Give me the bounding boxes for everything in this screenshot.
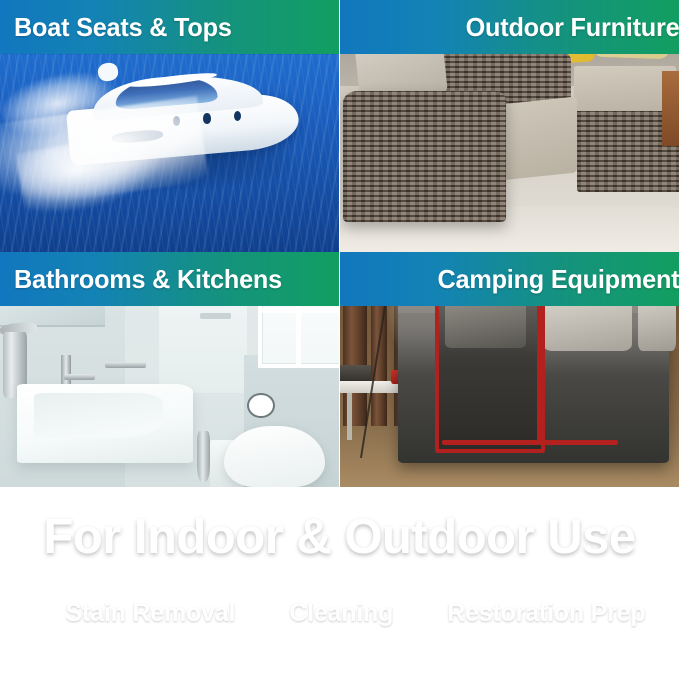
wall-mounted-faucet [105, 362, 146, 368]
feature-item-cleaning: Cleaning [257, 599, 393, 628]
towel-bar [200, 313, 231, 319]
feature-label-restoration-prep: Restoration Prep [447, 599, 645, 628]
panel-outdoor-furniture: Outdoor Furniture [340, 0, 679, 252]
check-circle-icon [257, 601, 282, 626]
panel-label-bar-bathrooms-kitchens: Bathrooms & Kitchens [0, 252, 339, 306]
tent-base-trim [442, 440, 618, 445]
feature-label-cleaning: Cleaning [289, 599, 393, 628]
check-circle-icon [415, 601, 440, 626]
wicker-chair-arm [343, 91, 506, 222]
wood-side-table [662, 71, 679, 147]
camp-table-leg [347, 393, 352, 440]
panel-label-bathrooms-kitchens: Bathrooms & Kitchens [14, 264, 282, 295]
window-mullion-horizontal [262, 308, 339, 313]
panel-camping-equipment: Camping Equipment [340, 252, 679, 487]
panel-label-bar-camping-equipment: Camping Equipment [340, 252, 679, 306]
panel-label-outdoor-furniture: Outdoor Furniture [465, 12, 679, 43]
toilet-bowl [224, 426, 326, 487]
panel-label-bar-boat-seats-tops: Boat Seats & Tops [0, 0, 339, 54]
sink-faucet-spout [64, 374, 95, 380]
feature-label-stain-removal: Stain Removal [66, 599, 236, 628]
panel-bathrooms-kitchens: Bathrooms & Kitchens [0, 252, 339, 487]
panel-label-bar-outdoor-furniture: Outdoor Furniture [340, 0, 679, 54]
boat-porthole [203, 113, 210, 124]
toilet-brush [197, 431, 211, 483]
sofa-cushion [574, 66, 676, 111]
panel-boat-seats-tops: Boat Seats & Tops [0, 0, 339, 252]
use-case-photo-grid: Boat Seats & Tops Outdoor Furni [0, 0, 679, 487]
dotted-divider [26, 579, 653, 584]
panel-label-boat-seats-tops: Boat Seats & Tops [14, 12, 232, 43]
bottom-banner: For Indoor & Outdoor Use Stain Removal C… [0, 487, 679, 679]
banner-headline: For Indoor & Outdoor Use [0, 509, 679, 565]
panel-label-camping-equipment: Camping Equipment [437, 264, 679, 295]
sink-basin [34, 393, 163, 438]
check-circle-icon [34, 601, 59, 626]
feature-item-restoration-prep: Restoration Prep [415, 599, 645, 628]
feature-list: Stain Removal Cleaning Restoration Prep [0, 599, 679, 628]
product-infographic: Boat Seats & Tops Outdoor Furni [0, 0, 679, 679]
feature-item-stain-removal: Stain Removal [34, 599, 236, 628]
